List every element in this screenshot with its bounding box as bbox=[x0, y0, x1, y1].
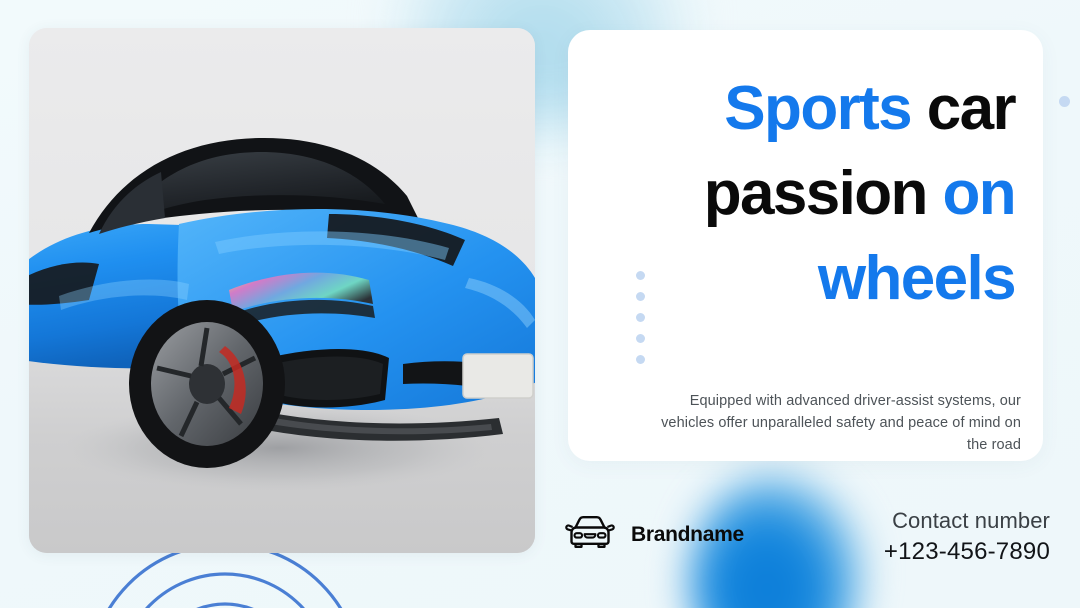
dot-icon-3 bbox=[636, 313, 645, 322]
headline-word-passion: passion bbox=[704, 159, 927, 228]
dot-icon-4 bbox=[636, 334, 645, 343]
contact-block: Contact number +123-456-7890 bbox=[884, 506, 1050, 568]
brand-lockup[interactable]: Brandname bbox=[563, 514, 744, 555]
car-photo-card bbox=[29, 28, 535, 553]
dot-icon-5 bbox=[636, 355, 645, 364]
headline-line-3: wheels bbox=[608, 236, 1015, 321]
headline-word-on: on bbox=[942, 159, 1015, 228]
body-paragraph: Equipped with advanced driver-assist sys… bbox=[656, 390, 1021, 456]
headline-word-wheels: wheels bbox=[818, 244, 1015, 313]
page-title: Sports car passion on wheels bbox=[608, 66, 1015, 321]
dot-icon-2 bbox=[636, 292, 645, 301]
contact-number[interactable]: +123-456-7890 bbox=[884, 536, 1050, 568]
headline-word-sports: Sports bbox=[724, 74, 911, 143]
headline-line-2: passion on bbox=[608, 151, 1015, 236]
car-illustration bbox=[29, 28, 535, 553]
dot-icon-1 bbox=[636, 271, 645, 280]
dot-icon-right-edge bbox=[1059, 96, 1070, 107]
headline-word-car: car bbox=[927, 74, 1015, 143]
car-front-icon bbox=[563, 514, 617, 555]
car-photo bbox=[29, 28, 535, 553]
poster-canvas: Sports car passion on wheels Equipped wi… bbox=[0, 0, 1080, 608]
contact-label: Contact number bbox=[884, 506, 1050, 536]
decorative-dot-column bbox=[636, 271, 645, 364]
headline-card: Sports car passion on wheels Equipped wi… bbox=[568, 30, 1043, 461]
headline-line-1: Sports car bbox=[608, 66, 1015, 151]
brand-name-label: Brandname bbox=[631, 523, 744, 547]
